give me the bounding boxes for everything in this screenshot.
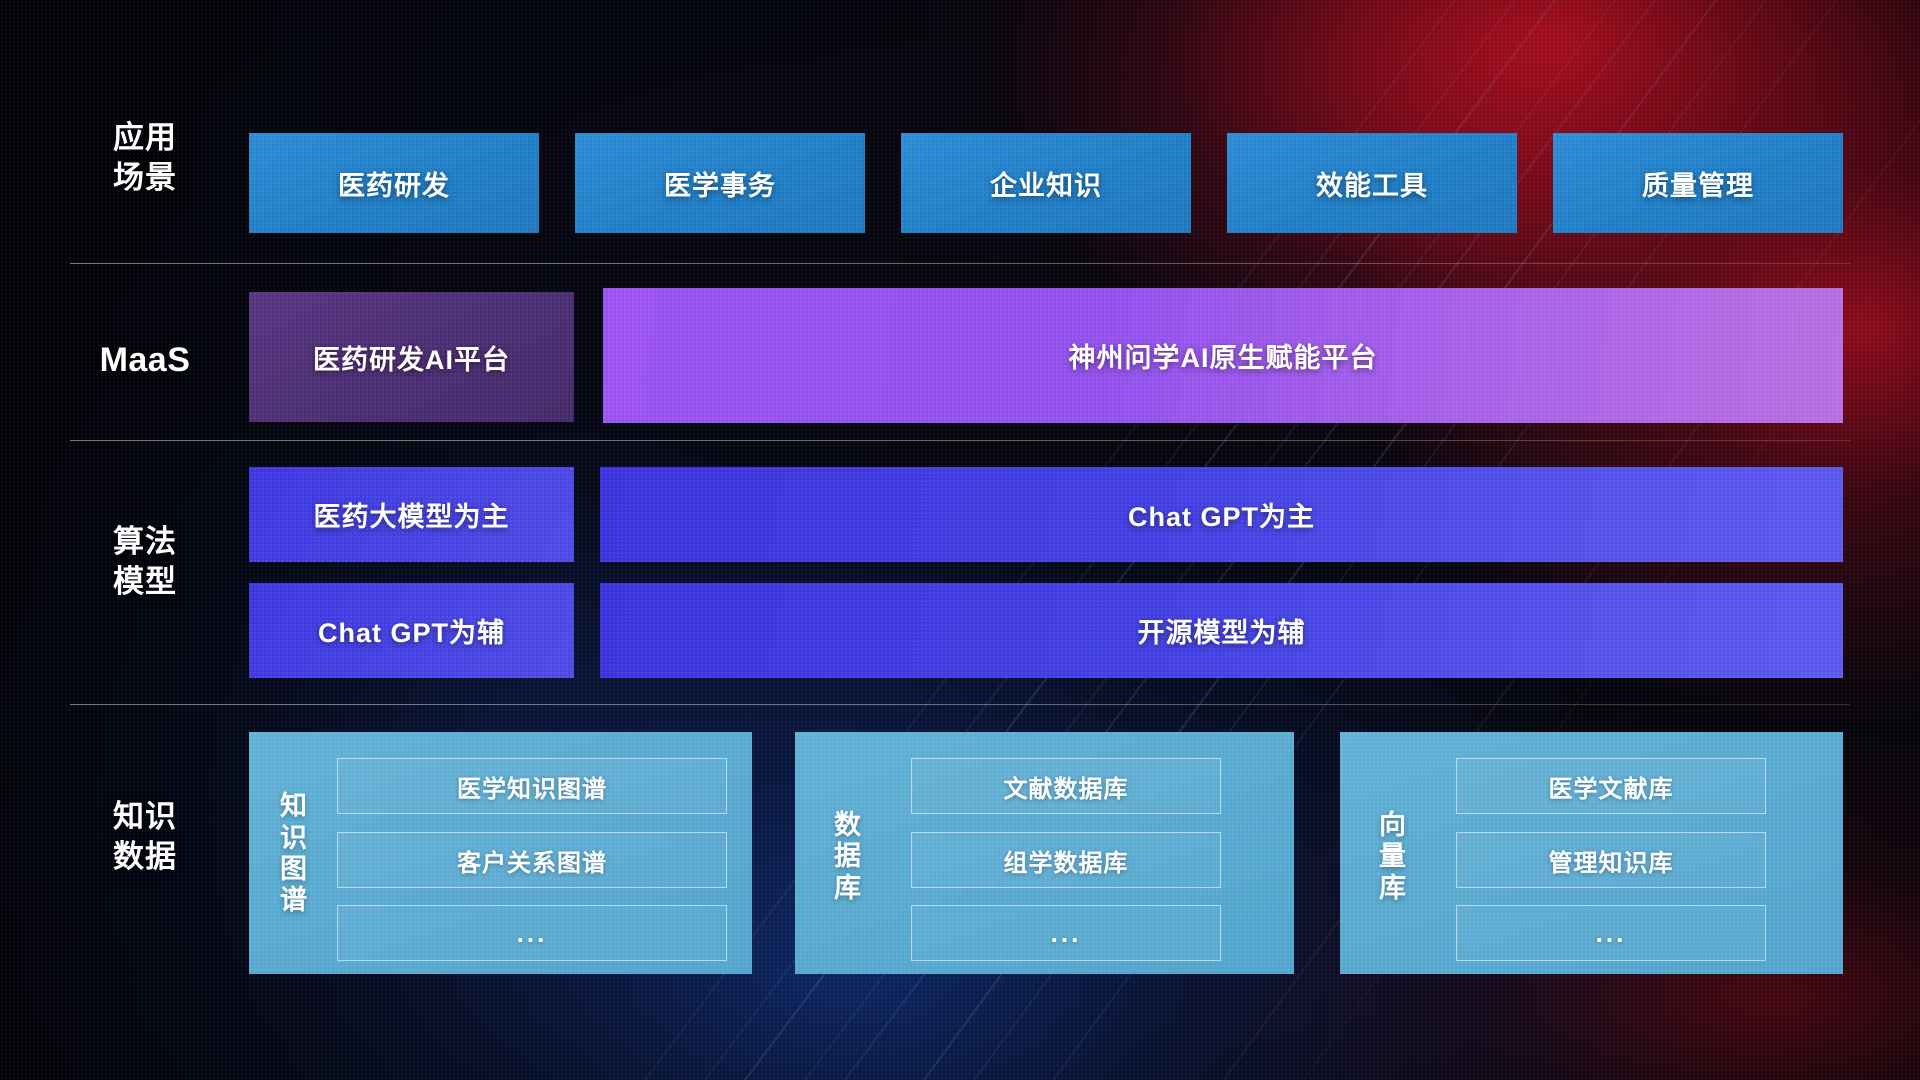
tile-medicine-rnd[interactable]: 医药研发 — [249, 133, 539, 233]
tile-label: 医药大模型为主 — [314, 495, 510, 534]
knowledge-item-label: 客户关系图谱 — [457, 843, 607, 878]
knowledge-item-label: ... — [517, 918, 548, 949]
knowledge-item-label: 医学知识图谱 — [457, 769, 607, 804]
tile-chatgpt-primary[interactable]: Chat GPT为主 — [600, 467, 1843, 562]
tile-chatgpt-secondary[interactable]: Chat GPT为辅 — [249, 583, 574, 678]
knowledge-item-label: 医学文献库 — [1549, 769, 1674, 804]
tile-label: 医学事务 — [664, 164, 776, 203]
tile-label: 质量管理 — [1642, 164, 1754, 203]
row-separator-3 — [70, 704, 1850, 705]
row-separator-2 — [70, 440, 1850, 441]
knowledge-panel-title: 数 据 库 — [817, 782, 879, 932]
knowledge-item-more[interactable]: ... — [1456, 905, 1766, 961]
tile-open-source-model-secondary[interactable]: 开源模型为辅 — [600, 583, 1843, 678]
row-label-maas: MaaS — [70, 338, 220, 382]
tile-efficiency-tools[interactable]: 效能工具 — [1227, 133, 1517, 233]
tile-label: Chat GPT为辅 — [318, 611, 505, 650]
tile-label: 开源模型为辅 — [1138, 611, 1306, 650]
tile-medicine-rnd-ai-platform[interactable]: 医药研发AI平台 — [249, 292, 574, 422]
knowledge-item-label: 文献数据库 — [1004, 769, 1129, 804]
knowledge-item-omics-database[interactable]: 组学数据库 — [911, 832, 1221, 888]
tile-medical-affairs[interactable]: 医学事务 — [575, 133, 865, 233]
tile-quality-management[interactable]: 质量管理 — [1553, 133, 1843, 233]
architecture-diagram: 应用 场景 医药研发 医学事务 企业知识 效能工具 质量管理 MaaS 医药研发… — [0, 0, 1920, 1080]
knowledge-item-more[interactable]: ... — [337, 905, 727, 961]
knowledge-item-customer-relation-graph[interactable]: 客户关系图谱 — [337, 832, 727, 888]
tile-label: 医药研发AI平台 — [313, 338, 510, 377]
knowledge-item-label: 组学数据库 — [1004, 843, 1129, 878]
knowledge-panel-title: 向 量 库 — [1362, 782, 1424, 932]
knowledge-item-more[interactable]: ... — [911, 905, 1221, 961]
knowledge-item-label: ... — [1051, 918, 1082, 949]
tile-label: Chat GPT为主 — [1128, 495, 1315, 534]
tile-label: 医药研发 — [338, 164, 450, 203]
knowledge-item-literature-database[interactable]: 文献数据库 — [911, 758, 1221, 814]
row-label-knowledge-data: 知识 数据 — [70, 797, 220, 878]
tile-shenzhou-wenxue-ai-platform[interactable]: 神州问学AI原生赋能平台 — [603, 288, 1843, 423]
tile-enterprise-knowledge[interactable]: 企业知识 — [901, 133, 1191, 233]
row-label-algorithm-model: 算法 模型 — [70, 522, 220, 603]
knowledge-item-label: 管理知识库 — [1549, 843, 1674, 878]
knowledge-item-medical-literature-store[interactable]: 医学文献库 — [1456, 758, 1766, 814]
knowledge-panel-title: 知 识 图 谱 — [263, 754, 325, 954]
row-separator-1 — [70, 263, 1850, 264]
knowledge-panel-vector-store: 向 量 库 医学文献库 管理知识库 ... — [1340, 732, 1843, 974]
tile-label: 效能工具 — [1316, 164, 1428, 203]
row-label-application-scenarios: 应用 场景 — [70, 118, 220, 199]
knowledge-item-medical-knowledge-graph[interactable]: 医学知识图谱 — [337, 758, 727, 814]
knowledge-item-label: ... — [1596, 918, 1627, 949]
tile-label: 企业知识 — [990, 164, 1102, 203]
tile-medicine-large-model-primary[interactable]: 医药大模型为主 — [249, 467, 574, 562]
tile-label: 神州问学AI原生赋能平台 — [1069, 336, 1378, 375]
knowledge-panel-database: 数 据 库 文献数据库 组学数据库 ... — [795, 732, 1294, 974]
knowledge-panel-knowledge-graph: 知 识 图 谱 医学知识图谱 客户关系图谱 ... — [249, 732, 752, 974]
knowledge-item-management-knowledge-store[interactable]: 管理知识库 — [1456, 832, 1766, 888]
